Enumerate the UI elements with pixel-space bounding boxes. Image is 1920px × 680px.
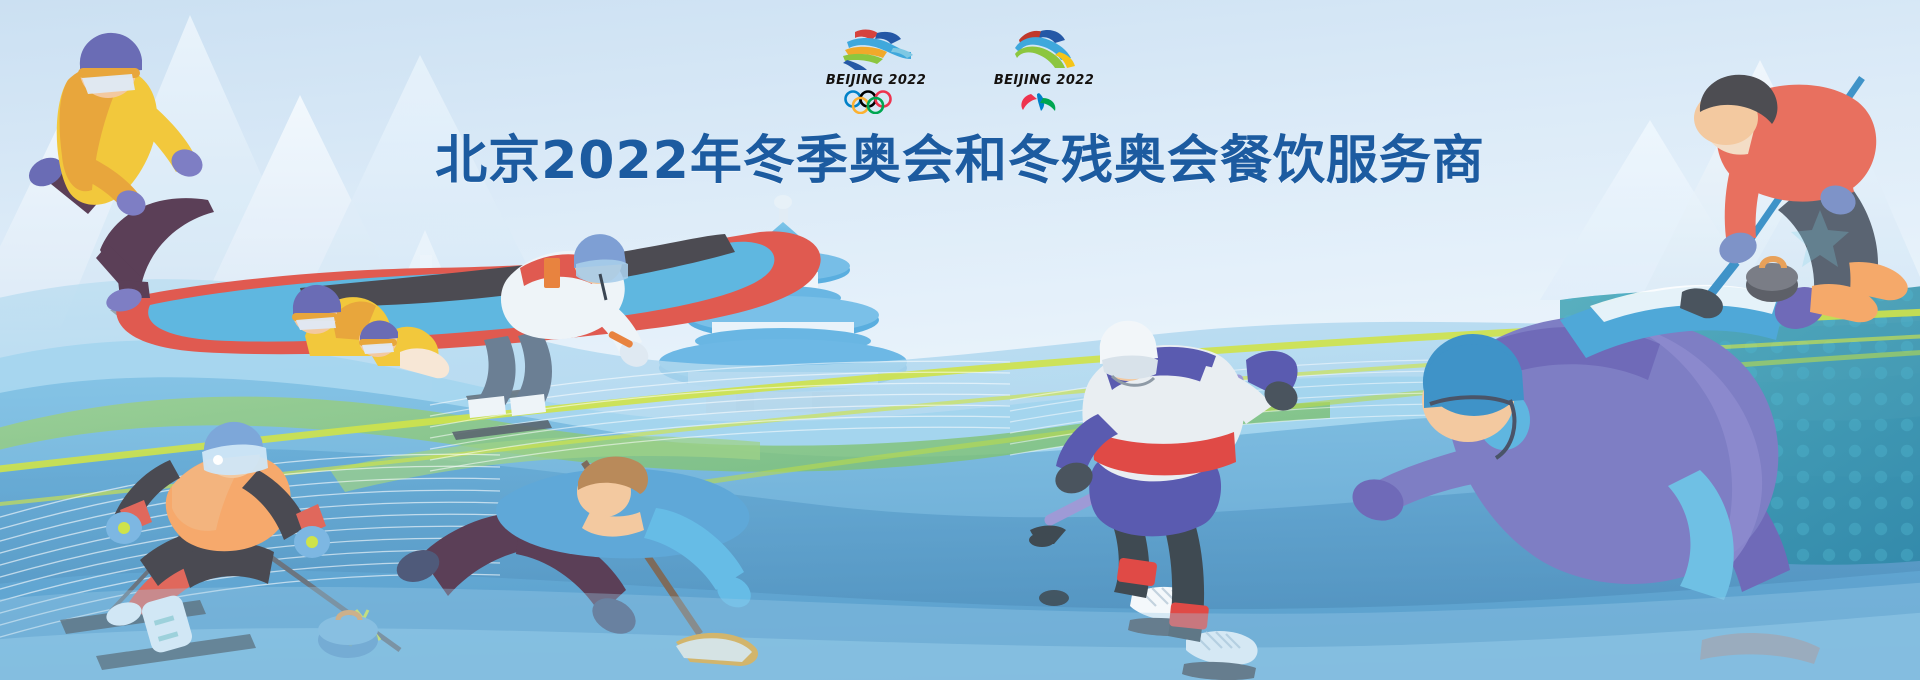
olympic-emblem-mark	[833, 26, 919, 72]
agitos-icon	[1015, 90, 1073, 114]
paralympic-wordmark: BEIJING 2022	[994, 74, 1094, 87]
olympic-rings-icon	[841, 90, 911, 114]
paralympic-emblem: BEIJING 2022	[984, 26, 1104, 114]
beijing-2022-banner: BEIJING 2022 BEIJING 2022	[0, 0, 1920, 680]
olympic-emblem: BEIJING 2022	[816, 26, 936, 114]
paralympic-emblem-mark	[1001, 26, 1087, 72]
olympic-wordmark: BEIJING 2022	[826, 74, 926, 87]
emblem-group: BEIJING 2022 BEIJING 2022	[690, 26, 1230, 118]
